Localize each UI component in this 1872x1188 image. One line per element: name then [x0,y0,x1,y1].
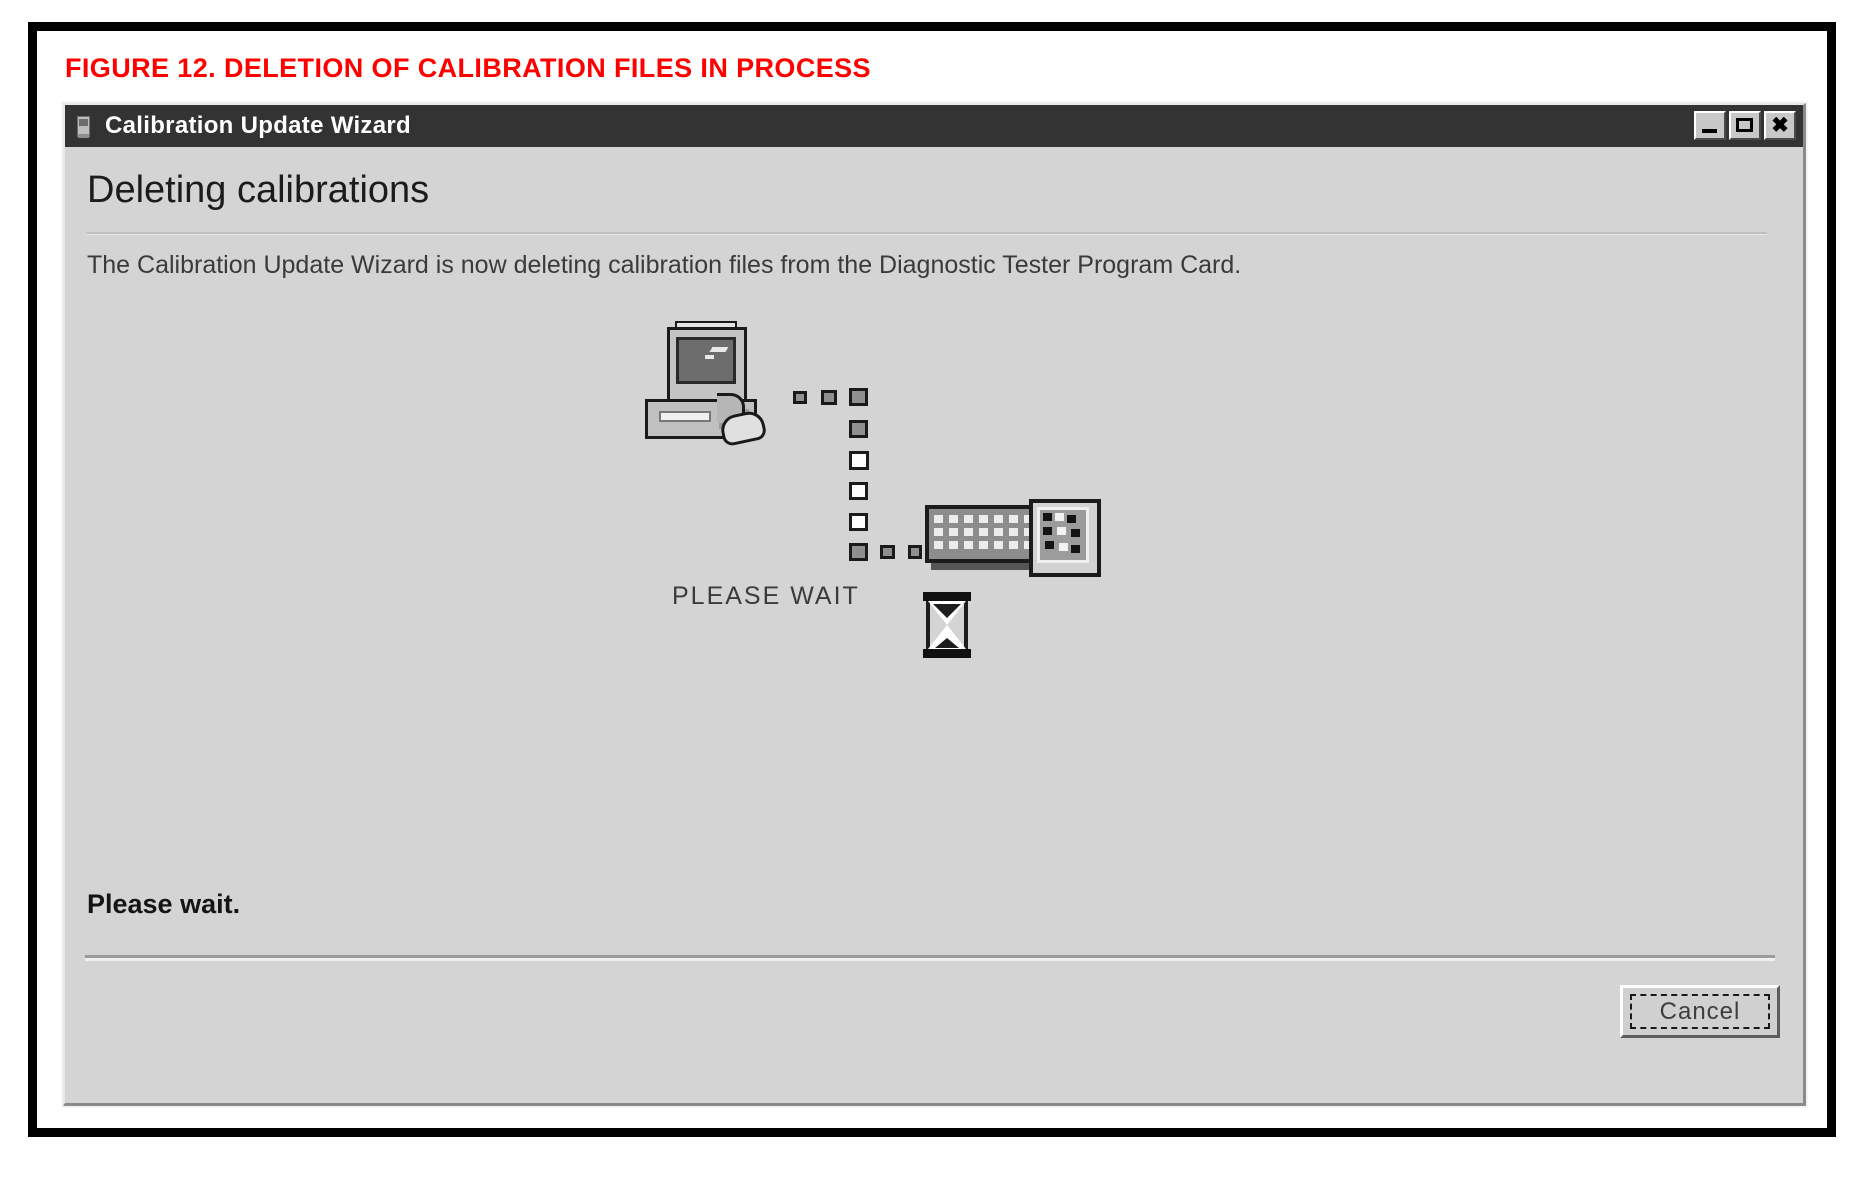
dotted-transfer-path-icon [793,391,807,404]
close-button[interactable]: ✖ [1764,111,1796,140]
please-wait-label: PLEASE WAIT [672,582,860,611]
dotted-transfer-path-icon [849,482,868,500]
page-description: The Calibration Update Wizard is now del… [87,251,1241,280]
footer-divider [85,955,1775,961]
wizard-body: Deleting calibrations The Calibration Up… [65,147,1803,1103]
calibration-update-wizard-window: Calibration Update Wizard ✖ Deleting cal… [63,103,1806,1106]
figure-frame: FIGURE 12. DELETION OF CALIBRATION FILES… [28,22,1836,1137]
handheld-tester-icon [75,113,92,139]
dotted-transfer-path-icon [849,420,868,438]
dotted-transfer-path-icon [849,513,868,531]
maximize-icon [1736,118,1753,132]
hourglass-icon [923,592,971,658]
status-text: Please wait. [87,889,240,920]
close-icon: ✖ [1766,113,1794,138]
heading-divider [87,232,1767,235]
dotted-transfer-path-icon [880,545,895,559]
transfer-illustration: PLEASE WAIT [625,327,1185,687]
diagnostic-tester-icon [925,505,1100,590]
figure-caption: FIGURE 12. DELETION OF CALIBRATION FILES… [65,53,871,84]
maximize-button[interactable] [1729,111,1761,140]
dotted-transfer-path-icon [908,545,922,559]
window-title-bar[interactable]: Calibration Update Wizard ✖ [65,105,1803,147]
desktop-computer-icon [645,327,775,452]
minimize-button[interactable] [1694,111,1726,140]
cancel-button[interactable]: Cancel [1620,985,1780,1038]
dotted-transfer-path-icon [821,390,837,405]
minimize-icon [1702,129,1717,133]
dotted-transfer-path-icon [849,543,868,561]
window-controls: ✖ [1694,111,1796,140]
window-title: Calibration Update Wizard [105,112,411,140]
dotted-transfer-path-icon [849,388,868,406]
dotted-transfer-path-icon [849,451,869,470]
focus-outline: Cancel [1630,994,1770,1029]
cancel-button-label: Cancel [1660,998,1741,1026]
page-title: Deleting calibrations [87,169,429,212]
